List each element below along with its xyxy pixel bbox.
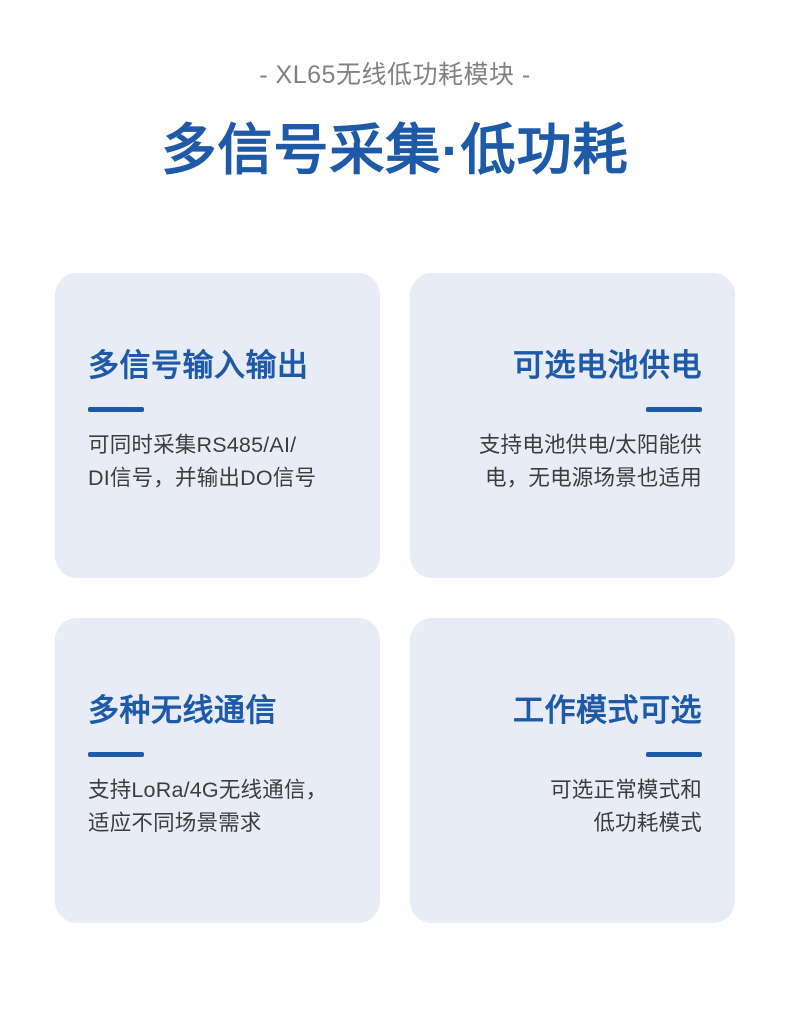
feature-card-battery-power: 可选电池供电 支持电池供电/太阳能供 电，无电源场景也适用: [410, 273, 735, 578]
feature-card-title: 多信号输入输出: [88, 346, 347, 386]
feature-card-title: 工作模式可选: [443, 691, 702, 731]
feature-card-content: 可选电池供电 支持电池供电/太阳能供 电，无电源场景也适用: [443, 273, 702, 495]
feature-card-multi-signal-io: 多信号输入输出 可同时采集RS485/AI/ DI信号，并输出DO信号: [55, 273, 380, 578]
product-feature-page: - XL65无线低功耗模块 - 多信号采集·低功耗 多信号输入输出 可同时采集R…: [0, 0, 790, 1030]
feature-card-content: 多信号输入输出 可同时采集RS485/AI/ DI信号，并输出DO信号: [88, 273, 347, 495]
feature-card-content: 多种无线通信 支持LoRa/4G无线通信， 适应不同场景需求: [88, 618, 347, 840]
feature-card-content: 工作模式可选 可选正常模式和 低功耗模式: [443, 618, 702, 840]
feature-card-wireless-comms: 多种无线通信 支持LoRa/4G无线通信， 适应不同场景需求: [55, 618, 380, 923]
feature-card-description: 可同时采集RS485/AI/ DI信号，并输出DO信号: [88, 429, 347, 495]
feature-card-work-mode: 工作模式可选 可选正常模式和 低功耗模式: [410, 618, 735, 923]
page-title: 多信号采集·低功耗: [0, 117, 790, 183]
accent-underline-divider: [646, 407, 702, 412]
feature-card-grid: 多信号输入输出 可同时采集RS485/AI/ DI信号，并输出DO信号 可选电池…: [55, 273, 735, 923]
accent-underline-divider: [646, 752, 702, 757]
feature-card-description: 支持电池供电/太阳能供 电，无电源场景也适用: [443, 429, 702, 495]
product-eyebrow-label: - XL65无线低功耗模块 -: [0, 58, 790, 92]
accent-underline-divider: [88, 407, 144, 412]
accent-underline-divider: [88, 752, 144, 757]
feature-card-description: 可选正常模式和 低功耗模式: [443, 774, 702, 840]
feature-card-description: 支持LoRa/4G无线通信， 适应不同场景需求: [88, 774, 347, 840]
page-header: - XL65无线低功耗模块 - 多信号采集·低功耗: [0, 0, 790, 183]
feature-card-title: 可选电池供电: [443, 346, 702, 386]
feature-card-title: 多种无线通信: [88, 691, 347, 731]
